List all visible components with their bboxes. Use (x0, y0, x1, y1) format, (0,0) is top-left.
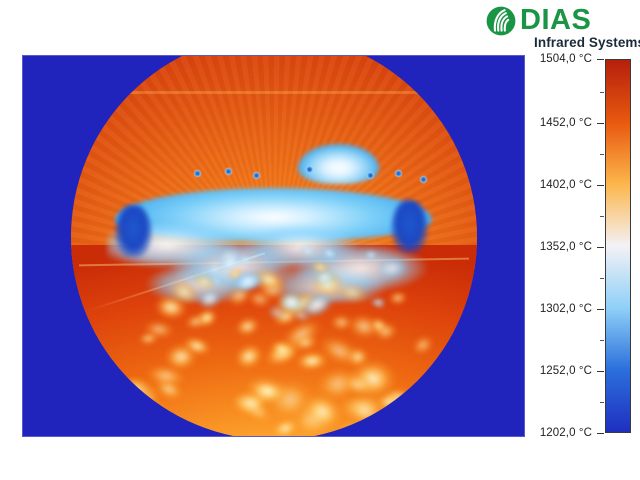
burner-nozzle-6 (420, 176, 427, 183)
dias-leaf-logo-icon (486, 6, 516, 36)
brand-name: DIAS (520, 4, 591, 36)
brand-subtitle: Infrared Systems (534, 35, 640, 50)
scale-tick-minor (600, 278, 604, 279)
scale-label-5: 1252,0 °C (540, 365, 592, 377)
scale-tick-major (597, 247, 604, 248)
burner-pillar-right (391, 200, 428, 253)
burner-nozzle-1 (225, 168, 232, 175)
scale-tick-minor (600, 402, 604, 403)
scale-tick-major (597, 185, 604, 186)
burner-nozzle-4 (367, 172, 374, 179)
scale-label-1: 1452,0 °C (540, 117, 592, 129)
scale-tick-major (597, 309, 604, 310)
vault-horizontal-band (71, 91, 477, 94)
scale-tick-major (597, 433, 604, 434)
hearth-coolspot (364, 250, 378, 260)
burner-pillar-left (115, 205, 152, 258)
brand-logo: DIAS Infrared Systems (486, 4, 636, 50)
scale-label-2: 1402,0 °C (540, 179, 592, 191)
scale-label-4: 1302,0 °C (540, 303, 592, 315)
color-gradient-bar (605, 59, 631, 433)
hearth-coolspot (239, 275, 258, 287)
burner-nozzle-3 (306, 166, 313, 173)
scale-tick-major (597, 59, 604, 60)
scale-tick-major (597, 371, 604, 372)
scale-tick-minor (600, 154, 604, 155)
scale-tick-minor (600, 92, 604, 93)
scale-label-3: 1352,0 °C (540, 241, 592, 253)
scale-tick-minor (600, 216, 604, 217)
temperature-color-scale[interactable] (605, 59, 631, 433)
scale-tick-major (597, 123, 604, 124)
thermal-viewport-disc (71, 55, 477, 437)
scale-label-6: 1202,0 °C (540, 427, 592, 439)
furnace-thermal-image[interactable] (22, 55, 525, 437)
scale-label-0: 1504,0 °C (540, 53, 592, 65)
scale-tick-minor (600, 340, 604, 341)
